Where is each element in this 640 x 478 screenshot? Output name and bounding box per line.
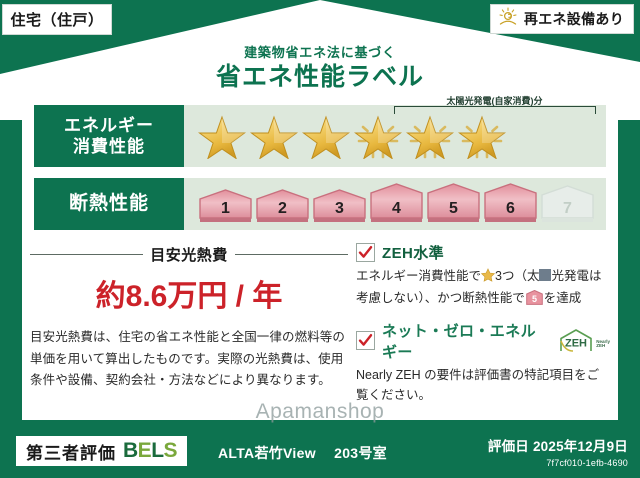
insulation-level-value: 3 (312, 200, 367, 218)
building-info: ALTA若竹View 203号室 (218, 443, 387, 463)
heading-rule-left (30, 254, 143, 255)
zeh-netzero-item: ネット・ゼロ・エネルギー ZEH Nearly ZEH (356, 320, 610, 406)
zeh-standard-checkbox (356, 243, 375, 262)
zeh-netzero-checkbox (356, 331, 375, 350)
insulation-level-badge: 5 (426, 182, 481, 223)
sun-icon (497, 7, 519, 32)
insulation-performance-row: 断熱性能 1 (34, 178, 606, 230)
energy-cost-value: 約8.6万円 / 年 (30, 271, 348, 315)
insulation-level-value: 6 (483, 200, 538, 218)
svg-text:ZEH: ZEH (565, 338, 587, 350)
star-icon (250, 111, 298, 164)
renewable-badge-label: 再エネ設備あり (524, 9, 624, 29)
check-icon (358, 333, 373, 348)
insulation-level-badge: 2 (255, 188, 310, 223)
energy-performance-label: エネルギー 消費性能 (34, 105, 184, 167)
insulation-level-scale: 1 2 3 (198, 182, 595, 223)
energy-cost-section: 目安光熱費 約8.6万円 / 年 目安光熱費は、住宅の省エネ性能と全国一律の燃料… (30, 242, 348, 392)
insulation-level-value: 1 (198, 200, 253, 218)
insulation-level-badge: 1 (198, 188, 253, 223)
star-icon (354, 111, 402, 164)
housing-type-chip: 住宅（住戸） (2, 4, 112, 35)
zeh-body-part1: エネルギー消費性能で (356, 269, 481, 283)
zeh-netzero-body: Nearly ZEH の要件は評価書の特記項目をご覧ください。 (356, 365, 610, 406)
watermark: Apamanshop (0, 400, 640, 424)
label-card: 建築物省エネ法に基づく 省エネ性能ラベル エネルギー 消費性能 太陽光発電(自家… (22, 79, 618, 420)
insulation-performance-label: 断熱性能 (34, 178, 184, 230)
inline-insulation-value: 5 (532, 294, 537, 304)
star-icon (302, 111, 350, 164)
zeh-netzero-title: ネット・ゼロ・エネルギー (382, 320, 548, 362)
energy-cost-heading-label: 目安光熱費 (150, 244, 228, 265)
insulation-level-badge: 7 (540, 184, 595, 223)
zeh-section: ZEH水準 エネルギー消費性能で3つ（太光発電は考慮しない）、かつ断熱性能で5を… (356, 242, 610, 409)
star-icon (458, 111, 506, 164)
renewable-energy-badge: 再エネ設備あり (490, 4, 634, 34)
evaluation-id: 7f7cf010-1efb-4690 (488, 458, 628, 468)
check-icon (358, 245, 373, 260)
evaluation-date: 評価日 2025年12月9日 (488, 435, 628, 455)
insulation-level-value: 2 (255, 200, 310, 218)
footer-bar: 第三者評価 BELS ALTA若竹View 203号室 評価日 2025年12月… (0, 430, 640, 478)
energy-cost-note: 目安光熱費は、住宅の省エネ性能と全国一律の燃料等の単価を用いて算出したものです。… (30, 327, 348, 392)
third-party-label: 第三者評価 (26, 439, 116, 464)
bels-badge: 第三者評価 BELS (16, 436, 187, 466)
bels-wordmark: BELS (123, 439, 177, 463)
insulation-level-value: 5 (426, 200, 481, 218)
zeh-body-part4: を達成 (544, 291, 582, 305)
star-icon (406, 111, 454, 164)
insulation-level-badge: 6 (483, 182, 538, 223)
insulation-level-value: 7 (540, 200, 595, 218)
inline-star-icon (481, 268, 495, 288)
inline-insulation-badge: 5 (526, 290, 543, 305)
zeh-logo-sub-line2: ZEH (596, 344, 610, 349)
building-name: ALTA若竹View (218, 445, 316, 461)
insulation-level-badge: 4 (369, 182, 424, 223)
zeh-house-icon: ZEH (558, 328, 594, 353)
insulation-level-badge: 3 (312, 188, 367, 223)
star-rating (198, 111, 506, 164)
room-number: 203号室 (334, 445, 387, 461)
housing-type-label: 住宅（住戸） (10, 9, 103, 30)
zeh-logo: ZEH Nearly ZEH (558, 328, 610, 353)
heading-rule-right (235, 254, 348, 255)
energy-performance-row: エネルギー 消費性能 太陽光発電(自家消費)分 (34, 105, 606, 167)
label-title: 省エネ性能ラベル (22, 57, 618, 93)
zeh-standard-title: ZEH水準 (382, 242, 444, 263)
zeh-standard-item: ZEH水準 エネルギー消費性能で3つ（太光発電は考慮しない）、かつ断熱性能で5を… (356, 242, 610, 309)
zeh-body-part2: 3つ（太 (495, 269, 539, 283)
redacted-mark (539, 269, 551, 281)
star-icon (198, 111, 246, 164)
insulation-level-value: 4 (369, 200, 424, 218)
zeh-standard-body: エネルギー消費性能で3つ（太光発電は考慮しない）、かつ断熱性能で5を達成 (356, 266, 610, 309)
energy-label-root: 住宅（住戸） 再エネ設備あり 建築物省エネ法に基づく 省エネ性能ラベ (0, 0, 640, 478)
energy-cost-heading: 目安光熱費 (30, 244, 348, 265)
evaluation-info: 評価日 2025年12月9日 7f7cf010-1efb-4690 (488, 435, 628, 468)
